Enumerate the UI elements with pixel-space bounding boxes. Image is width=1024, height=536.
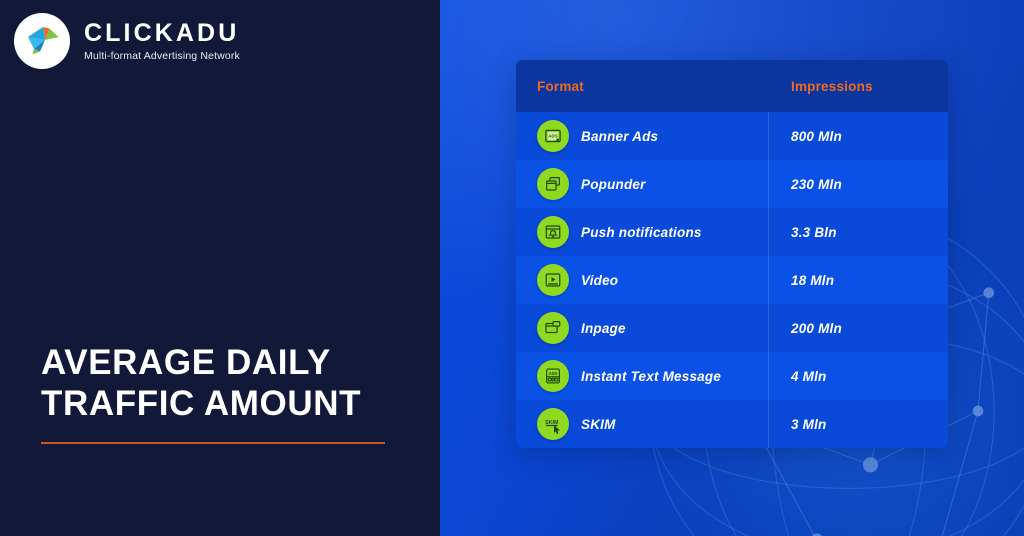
table-header-row: Format Impressions — [516, 60, 948, 112]
impressions-value: 3 Mln — [791, 417, 827, 432]
brand-name: CLICKADU — [84, 20, 240, 46]
cell-impressions: 4 Mln — [768, 369, 948, 384]
cell-impressions: 3.3 Bln — [768, 225, 948, 240]
table-row[interactable]: Inpage 200 Mln — [516, 304, 948, 352]
cell-format: SKIM SKIM — [516, 408, 768, 440]
popunder-icon — [537, 168, 569, 200]
column-header-format: Format — [516, 79, 768, 94]
format-label: Instant Text Message — [581, 369, 721, 384]
impressions-value: 200 Mln — [791, 321, 842, 336]
table-row[interactable]: Push notifications 3.3 Bln — [516, 208, 948, 256]
format-label: Popunder — [581, 177, 646, 192]
right-panel: Format Impressions ADS Banner Ads 800 Ml… — [440, 0, 1024, 536]
cell-format: Push notifications — [516, 216, 768, 248]
table-row[interactable]: Popunder 230 Mln — [516, 160, 948, 208]
headline-underline — [41, 442, 385, 444]
format-label: Video — [581, 273, 618, 288]
brand-tagline: Multi-format Advertising Network — [84, 50, 240, 62]
cell-impressions: 200 Mln — [768, 321, 948, 336]
format-label: Banner Ads — [581, 129, 658, 144]
cell-format: ADS Instant Text Message — [516, 360, 768, 392]
cell-impressions: 3 Mln — [768, 417, 948, 432]
impressions-value: 18 Mln — [791, 273, 834, 288]
cell-impressions: 18 Mln — [768, 273, 948, 288]
format-label: Push notifications — [581, 225, 702, 240]
cell-format: Inpage — [516, 312, 768, 344]
brand-logo: CLICKADU Multi-format Advertising Networ… — [14, 13, 240, 69]
table-row[interactable]: ADS Instant Text Message 4 Mln — [516, 352, 948, 400]
svg-text:ADS: ADS — [548, 134, 558, 139]
push-notifications-icon — [537, 216, 569, 248]
skim-icon: SKIM — [537, 408, 569, 440]
cell-impressions: 800 Mln — [768, 129, 948, 144]
cell-format: ADS Banner Ads — [516, 120, 768, 152]
page-title: AVERAGE DAILY TRAFFIC AMOUNT — [41, 342, 411, 425]
video-icon — [537, 264, 569, 296]
inpage-icon — [537, 312, 569, 344]
table-row[interactable]: Video 18 Mln — [516, 256, 948, 304]
format-label: SKIM — [581, 417, 616, 432]
cell-format: Video — [516, 264, 768, 296]
impressions-value: 800 Mln — [791, 129, 842, 144]
instant-text-message-icon: ADS — [537, 360, 569, 392]
impressions-value: 3.3 Bln — [791, 225, 837, 240]
impressions-value: 230 Mln — [791, 177, 842, 192]
brand-text: CLICKADU Multi-format Advertising Networ… — [84, 20, 240, 61]
impressions-value: 4 Mln — [791, 369, 827, 384]
clickadu-origami-bird-logo-icon — [14, 13, 70, 69]
table-row[interactable]: SKIM SKIM 3 Mln — [516, 400, 948, 448]
left-panel: CLICKADU Multi-format Advertising Networ… — [0, 0, 440, 536]
cell-format: Popunder — [516, 168, 768, 200]
svg-text:ADS: ADS — [549, 371, 558, 376]
column-header-impressions: Impressions — [768, 79, 948, 94]
banner-ads-icon: ADS — [537, 120, 569, 152]
impressions-table: Format Impressions ADS Banner Ads 800 Ml… — [516, 60, 948, 448]
cell-impressions: 230 Mln — [768, 177, 948, 192]
format-label: Inpage — [581, 321, 626, 336]
headline-block: AVERAGE DAILY TRAFFIC AMOUNT — [41, 342, 411, 444]
table-row[interactable]: ADS Banner Ads 800 Mln — [516, 112, 948, 160]
